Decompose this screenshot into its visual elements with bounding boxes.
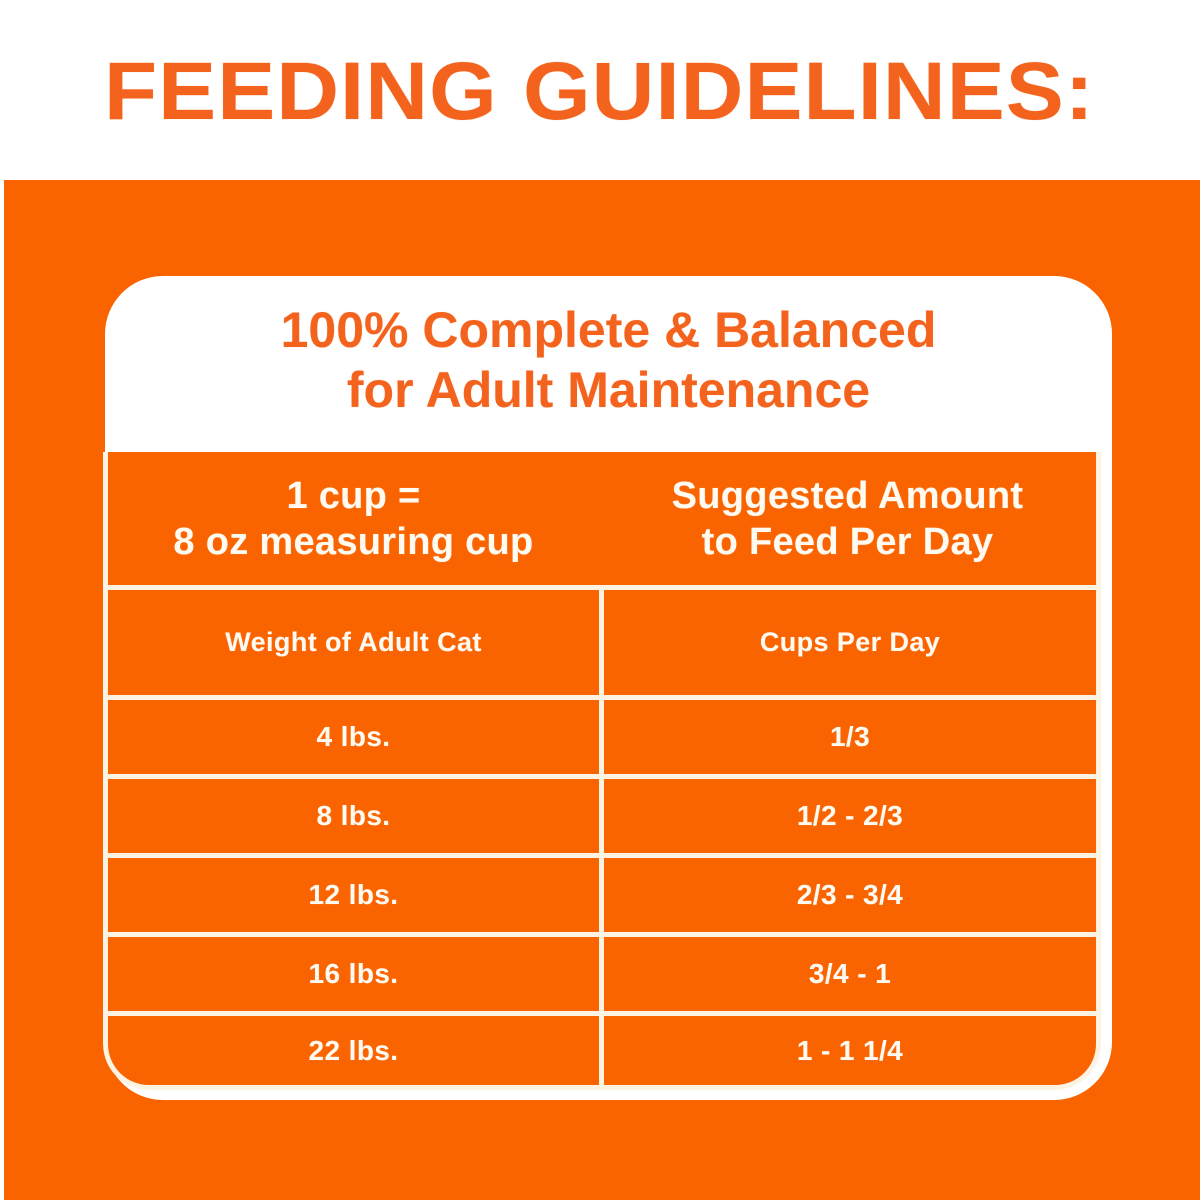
table-row: 12 lbs. 2/3 - 3/4 [103, 853, 1101, 932]
cell-weight: 12 lbs. [103, 853, 599, 932]
card-heading-line-1: 100% Complete & Balanced [105, 300, 1112, 360]
table-row: 16 lbs. 3/4 - 1 [103, 932, 1101, 1011]
cell-weight: 16 lbs. [103, 932, 599, 1011]
banner-suggested-line-2: to Feed Per Day [599, 519, 1096, 565]
table-row: 4 lbs. 1/3 [103, 695, 1101, 774]
banner-measure-line-2: 8 oz measuring cup [108, 519, 599, 565]
cell-weight: 22 lbs. [103, 1011, 599, 1090]
table-row: 8 lbs. 1/2 - 2/3 [103, 774, 1101, 853]
cell-cups: 3/4 - 1 [599, 932, 1101, 1011]
banner-measure-line-1: 1 cup = [108, 473, 599, 519]
column-header-cups: Cups Per Day [599, 585, 1101, 695]
title-band: FEEDING GUIDELINES: [0, 0, 1200, 180]
cell-weight: 8 lbs. [103, 774, 599, 853]
banner-cell-suggested: Suggested Amount to Feed Per Day [599, 452, 1101, 585]
table-header-row: Weight of Adult Cat Cups Per Day [103, 585, 1101, 695]
cell-cups: 2/3 - 3/4 [599, 853, 1101, 932]
feeding-guidelines-page: FEEDING GUIDELINES: 100% Complete & Bala… [0, 0, 1200, 1200]
column-header-weight: Weight of Adult Cat [103, 585, 599, 695]
table-row: 22 lbs. 1 - 1 1/4 [103, 1011, 1101, 1090]
cell-cups: 1/3 [599, 695, 1101, 774]
feeding-table: 1 cup = 8 oz measuring cup Suggested Amo… [103, 452, 1101, 1090]
card-heading-line-2: for Adult Maintenance [105, 360, 1112, 420]
cell-cups: 1/2 - 2/3 [599, 774, 1101, 853]
cell-weight: 4 lbs. [103, 695, 599, 774]
card-heading: 100% Complete & Balanced for Adult Maint… [105, 300, 1112, 420]
cell-cups: 1 - 1 1/4 [599, 1011, 1101, 1090]
banner-cell-measure: 1 cup = 8 oz measuring cup [103, 452, 599, 585]
table-banner-row: 1 cup = 8 oz measuring cup Suggested Amo… [103, 452, 1101, 585]
page-title: FEEDING GUIDELINES: [104, 40, 1058, 144]
banner-suggested-line-1: Suggested Amount [599, 473, 1096, 519]
